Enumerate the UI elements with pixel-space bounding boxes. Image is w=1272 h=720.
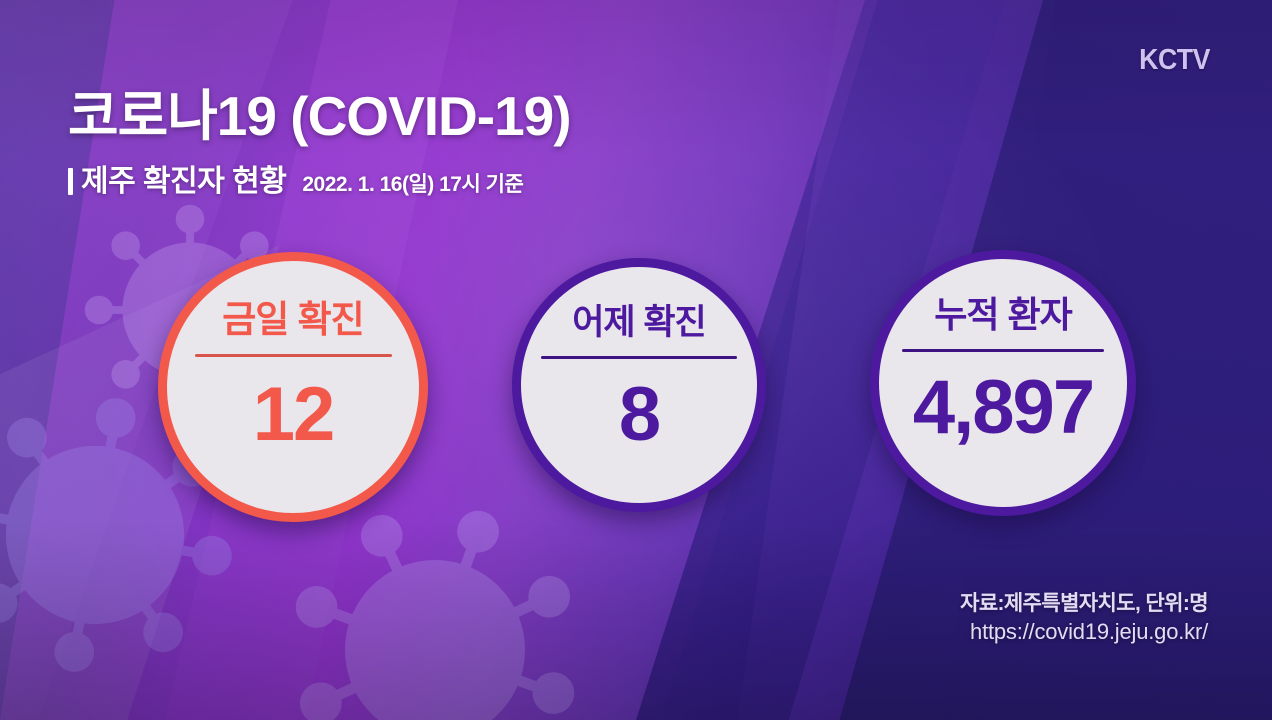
as-of-date: 2022. 1. 16(일) 17시 기준 [302, 168, 523, 198]
page-title: 코로나19 (COVID-19) [68, 88, 571, 146]
title-block: 코로나19 (COVID-19) 제주 확진자 현황 2022. 1. 16(일… [68, 88, 571, 200]
stat-circle-yesterday-confirmed: 어제 확진 8 [512, 258, 766, 512]
stat-divider [195, 354, 392, 357]
stat-value: 12 [253, 377, 334, 453]
stat-divider [541, 356, 737, 359]
stat-value: 4,897 [913, 370, 1093, 446]
kctv-logo: KCTV [1139, 44, 1210, 77]
footer-attribution: 자료:제주특별자치도, 단위:명 https://covid19.jeju.go… [960, 591, 1208, 646]
accent-bar-icon [68, 168, 73, 195]
stat-label: 금일 확진 [222, 301, 363, 338]
stat-divider [902, 349, 1104, 352]
stat-circle-today-confirmed: 금일 확진 12 [158, 252, 428, 522]
broadcast-graphic: KCTV 코로나19 (COVID-19) 제주 확진자 현황 2022. 1.… [0, 0, 1272, 720]
source-url: https://covid19.jeju.go.kr/ [960, 618, 1208, 646]
stat-circle-cumulative-patients: 누적 환자 4,897 [870, 250, 1136, 516]
stat-label: 어제 확진 [572, 305, 706, 340]
page-subtitle: 제주 확진자 현황 [81, 156, 286, 200]
stat-value: 8 [619, 377, 659, 453]
subtitle-row: 제주 확진자 현황 2022. 1. 16(일) 17시 기준 [68, 156, 571, 200]
source-text: 자료:제주특별자치도, 단위:명 [960, 591, 1208, 618]
stat-label: 누적 환자 [934, 297, 1071, 333]
